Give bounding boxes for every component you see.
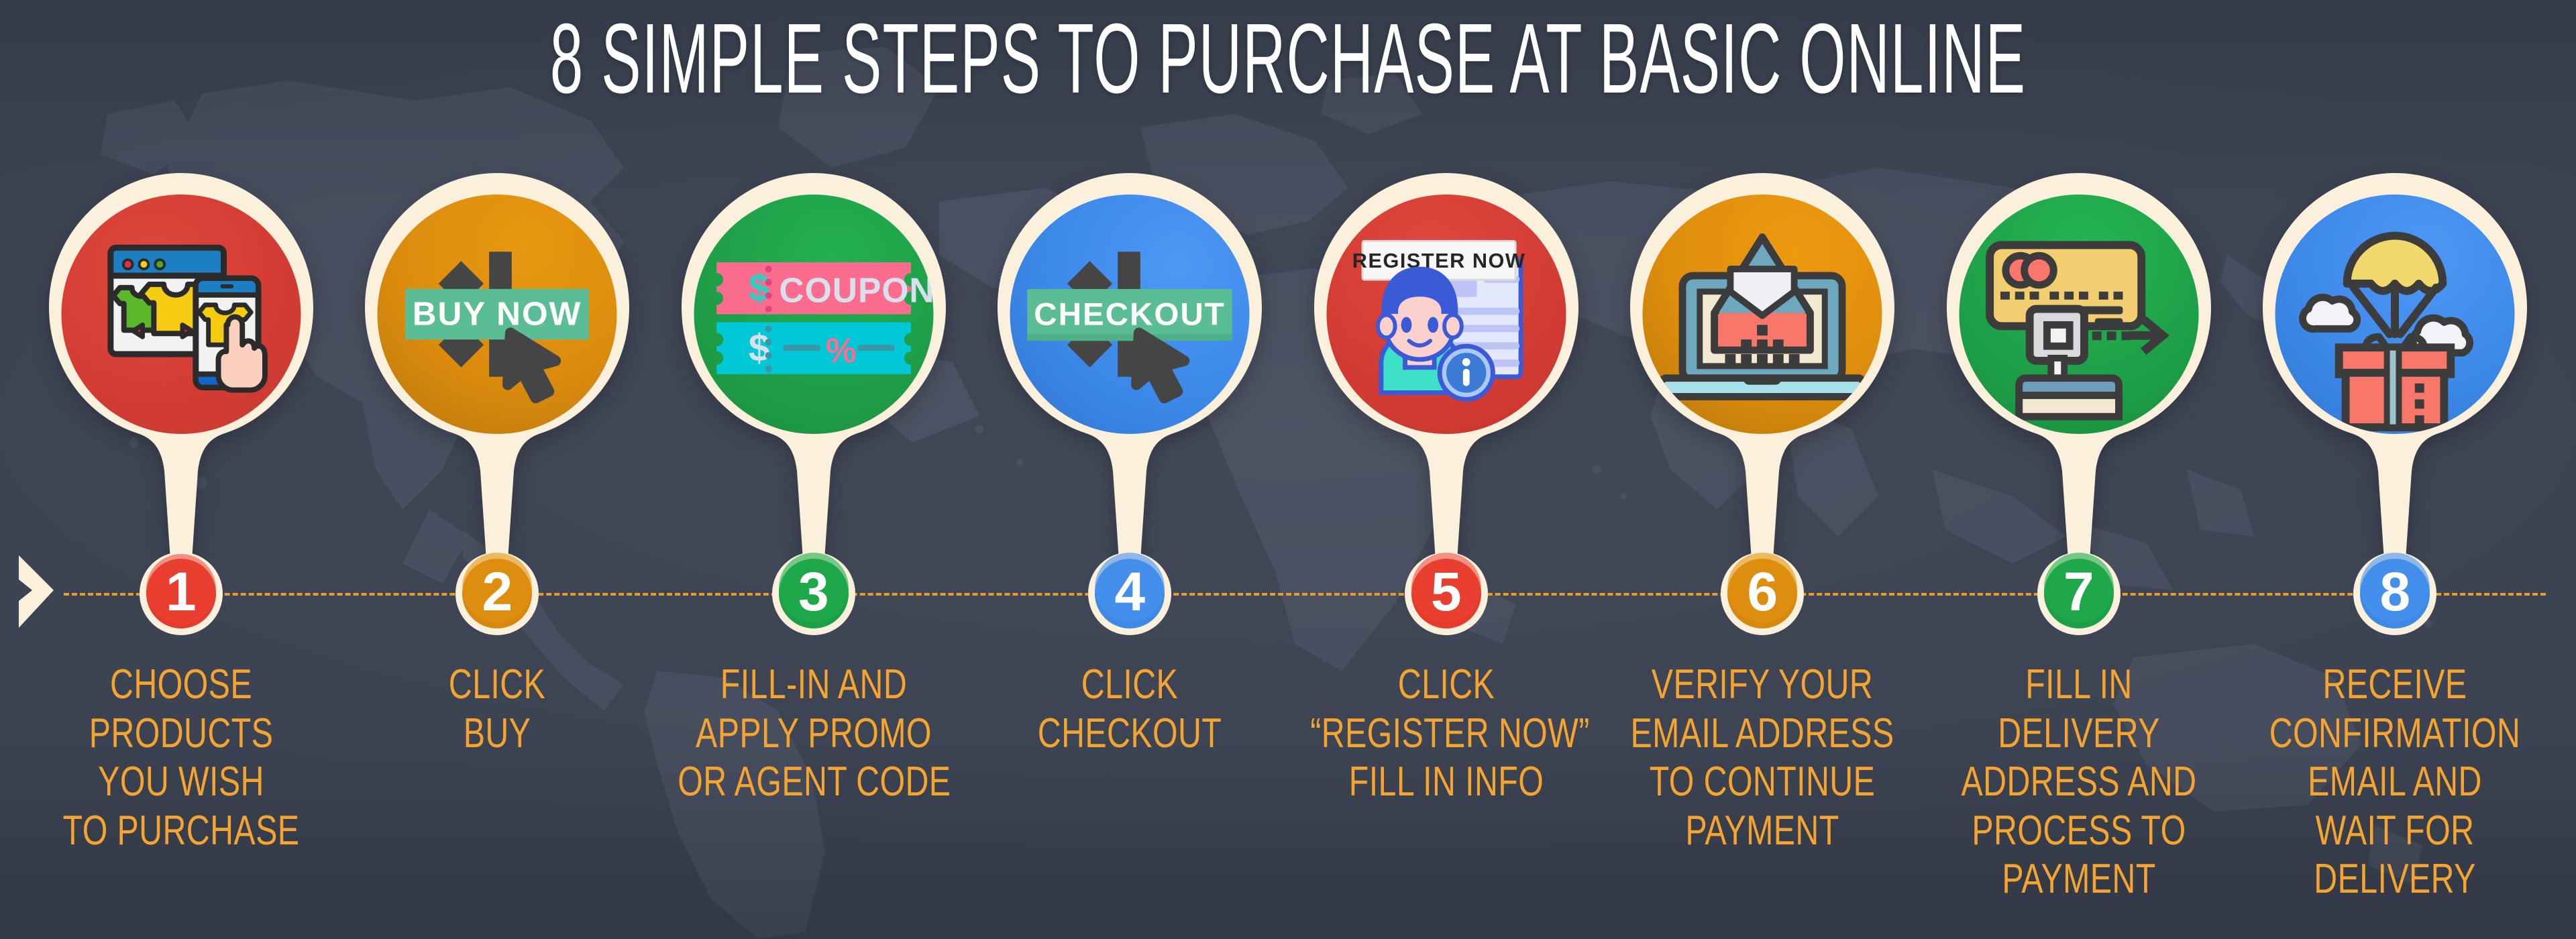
step-number-wrap: 6 bbox=[1717, 549, 1807, 639]
step-6[interactable]: 6 VERIFY YOUR EMAIL ADDRESS TO CONTINUE … bbox=[1605, 0, 1921, 939]
caption-line: DELIVERY bbox=[1943, 710, 2215, 759]
buy-now-label: BUY NOW bbox=[413, 294, 582, 332]
caption-line: PROCESS TO bbox=[1943, 807, 2215, 856]
step-number-wrap: 2 bbox=[452, 549, 542, 639]
caption-line: “REGISTER NOW” bbox=[1310, 710, 1582, 759]
buy-now-button-click-icon: BUY NOW bbox=[378, 195, 617, 434]
coupon-label: COUPON bbox=[779, 271, 933, 310]
step-caption: CLICK “REGISTER NOW” FILL IN INFO bbox=[1272, 661, 1621, 807]
caption-line: PAYMENT bbox=[1626, 807, 1898, 856]
step-caption: VERIFY YOUR EMAIL ADDRESS TO CONTINUE PA… bbox=[1588, 661, 1937, 855]
caption-line: PAYMENT bbox=[1943, 855, 2215, 904]
step-icon-circle bbox=[1643, 195, 1882, 434]
caption-line: ADDRESS AND bbox=[1943, 758, 2215, 807]
credit-card-payment-terminal-icon bbox=[1959, 195, 2198, 434]
caption-line: CONFIRMATION bbox=[2259, 710, 2531, 759]
caption-line: WAIT FOR bbox=[2259, 807, 2531, 856]
caption-line: PRODUCTS bbox=[45, 710, 317, 759]
step-icon-circle: BUY NOW bbox=[378, 195, 617, 434]
online-shopping-browser-phone-icon bbox=[61, 195, 301, 434]
caption-line: YOU WISH bbox=[45, 758, 317, 807]
coupon-dollar-label-2: $ bbox=[749, 327, 770, 370]
step-caption: RECEIVE CONFIRMATION EMAIL AND WAIT FOR … bbox=[2220, 661, 2569, 904]
step-number-wrap: 7 bbox=[2034, 549, 2124, 639]
caption-line: EMAIL ADDRESS bbox=[1626, 710, 1898, 759]
register-now-form-user-icon: REGISTER NOW bbox=[1326, 195, 1566, 434]
step-number: 6 bbox=[1717, 549, 1807, 639]
step-number: 3 bbox=[769, 549, 859, 639]
step-icon-circle bbox=[1959, 195, 2198, 434]
caption-line: FILL-IN AND bbox=[678, 661, 950, 710]
checkout-button-click-icon: CHECKOUT bbox=[1010, 195, 1250, 434]
caption-line: FILL IN bbox=[1943, 661, 2215, 710]
page-title: 8 SIMPLE STEPS TO PURCHASE AT BASIC ONLI… bbox=[515, 9, 2061, 109]
step-caption: FILL-IN AND APPLY PROMO OR AGENT CODE bbox=[639, 661, 988, 807]
step-icon-circle: $ COUPON $ % bbox=[694, 195, 933, 434]
caption-line: CLICK bbox=[361, 661, 633, 710]
step-icon-circle bbox=[61, 195, 301, 434]
caption-line: TO CONTINUE bbox=[1626, 758, 1898, 807]
caption-line: RECEIVE bbox=[2259, 661, 2531, 710]
step-icon-circle: REGISTER NOW bbox=[1326, 195, 1566, 434]
caption-line: BUY bbox=[361, 710, 633, 759]
step-3[interactable]: $ COUPON $ % bbox=[655, 0, 972, 939]
step-number: 8 bbox=[2350, 549, 2440, 639]
step-caption: CLICK CHECKOUT bbox=[955, 661, 1304, 758]
caption-line: CHECKOUT bbox=[994, 710, 1266, 759]
step-1[interactable]: 1 CHOOSE PRODUCTS YOU WISH TO PURCHASE bbox=[23, 0, 339, 939]
caption-line: EMAIL AND bbox=[2259, 758, 2531, 807]
step-4[interactable]: CHECKOUT 4 CLICK CHECKOUT bbox=[972, 0, 1289, 939]
step-number-wrap: 1 bbox=[136, 549, 226, 639]
caption-line: DELIVERY bbox=[2259, 855, 2531, 904]
caption-line: OR AGENT CODE bbox=[678, 758, 950, 807]
step-number: 1 bbox=[136, 549, 226, 639]
caption-line: CHOOSE bbox=[45, 661, 317, 710]
caption-line: APPLY PROMO bbox=[678, 710, 950, 759]
step-caption: CLICK BUY bbox=[323, 661, 672, 758]
coupon-promo-code-icon: $ COUPON $ % bbox=[694, 195, 933, 434]
step-number-wrap: 5 bbox=[1401, 549, 1491, 639]
email-verification-laptop-icon bbox=[1643, 195, 1882, 434]
step-7[interactable]: 7 FILL IN DELIVERY ADDRESS AND PROCESS T… bbox=[1921, 0, 2237, 939]
caption-line: CLICK bbox=[1310, 661, 1582, 710]
step-number: 4 bbox=[1085, 549, 1175, 639]
step-number: 7 bbox=[2034, 549, 2124, 639]
step-icon-circle: CHECKOUT bbox=[1010, 195, 1250, 434]
gift-parachute-delivery-icon bbox=[2275, 195, 2515, 434]
checkout-label: CHECKOUT bbox=[1034, 296, 1226, 332]
caption-line: VERIFY YOUR bbox=[1626, 661, 1898, 710]
caption-line: CLICK bbox=[994, 661, 1266, 710]
step-number-wrap: 3 bbox=[769, 549, 859, 639]
step-2[interactable]: BUY NOW 2 CLICK BUY bbox=[339, 0, 656, 939]
caption-line: TO PURCHASE bbox=[45, 807, 317, 856]
caption-line: FILL IN INFO bbox=[1310, 758, 1582, 807]
step-number-wrap: 8 bbox=[2350, 549, 2440, 639]
step-number: 2 bbox=[452, 549, 542, 639]
step-caption: FILL IN DELIVERY ADDRESS AND PROCESS TO … bbox=[1904, 661, 2253, 904]
step-8[interactable]: 8 RECEIVE CONFIRMATION EMAIL AND WAIT FO… bbox=[2237, 0, 2554, 939]
step-number-wrap: 4 bbox=[1085, 549, 1175, 639]
register-now-label: REGISTER NOW bbox=[1352, 249, 1526, 272]
step-icon-circle bbox=[2275, 195, 2515, 434]
steps-row: 1 CHOOSE PRODUCTS YOU WISH TO PURCHASE B… bbox=[0, 0, 2576, 939]
step-number: 5 bbox=[1401, 549, 1491, 639]
coupon-percent-label: % bbox=[826, 331, 857, 370]
coupon-dollar-label: $ bbox=[749, 267, 770, 310]
step-5[interactable]: REGISTER NOW bbox=[1288, 0, 1605, 939]
step-caption: CHOOSE PRODUCTS YOU WISH TO PURCHASE bbox=[7, 661, 356, 855]
